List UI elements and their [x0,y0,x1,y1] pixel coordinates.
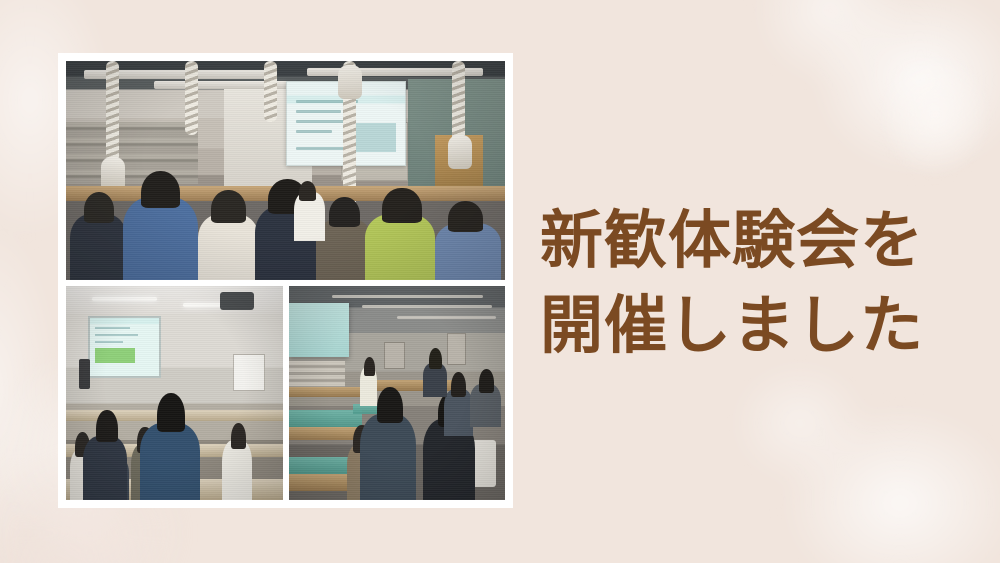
photo-top-wide [66,61,505,280]
cutting-mat-a [289,410,363,427]
ceiling-projector [220,292,255,309]
page-title-line-1: 新歓体験会を [540,198,960,283]
projector-screen [88,316,161,378]
watercolor-wash-bottom-right [720,353,1000,563]
ceiling-pipe-c [397,316,497,319]
left-shelving [66,122,198,183]
shop-machine-b [447,333,466,365]
watercolor-wash-top-right-2 [850,20,1000,210]
slide-green-highlight [95,348,135,363]
bench-back-left [289,387,367,398]
photo-bottom-right [289,286,506,500]
page-title: 新歓体験会を 開催しました [540,198,960,368]
ceiling-pipe-a [332,295,484,298]
cutting-mat-b [289,457,350,474]
ceiling-pipe-b [362,305,492,308]
av-speaker-stack [79,359,90,389]
slide-table-block [353,123,396,151]
extraction-hose-2 [185,61,198,135]
projector-screen [289,303,350,357]
page-title-line-2: 開催しました [540,283,960,368]
extraction-hood-4 [338,65,362,99]
extraction-hose-3 [264,61,277,122]
ceiling-light-a [92,297,157,301]
whiteboard [233,354,265,390]
watercolor-wash-top-right [740,0,1000,220]
shop-machine-a [384,342,405,370]
slide-canvas: 新歓体験会を 開催しました [0,0,1000,563]
extraction-hood-5 [448,135,472,169]
event-photo-collage [58,53,513,508]
photo-bottom-left [66,286,283,500]
extraction-hose-1 [106,61,119,162]
collage-bottom-row [66,286,505,500]
